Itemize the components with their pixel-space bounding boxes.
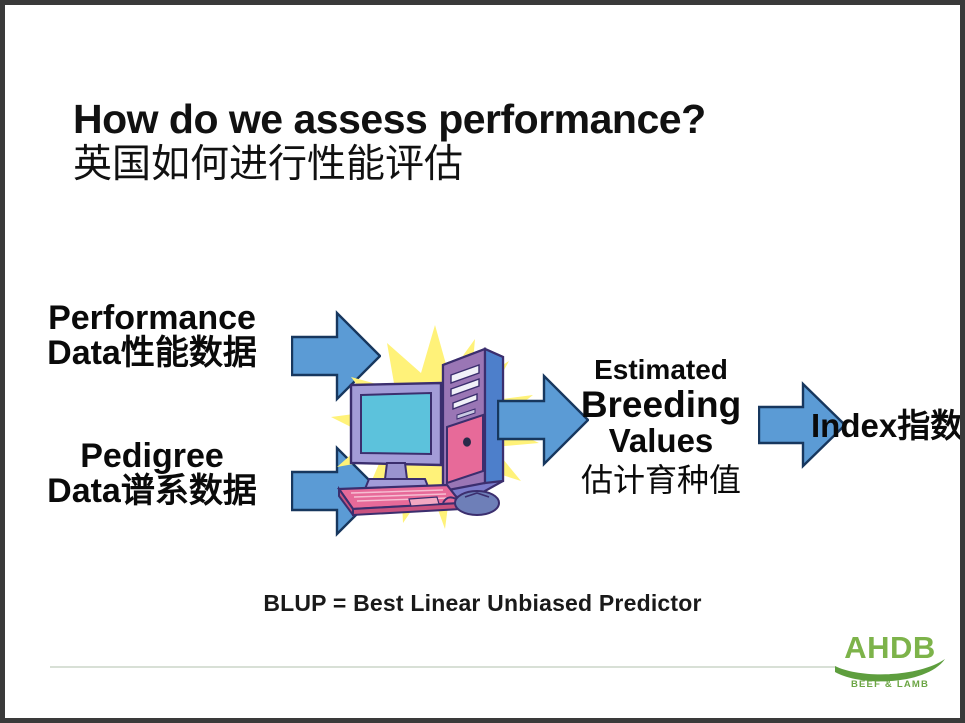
ahdb-logo-subtitle: BEEF & LAMB <box>851 679 929 690</box>
label-performance-line2: Data性能数据 <box>17 336 287 371</box>
ebv-line-chinese: 估计育种值 <box>561 461 761 499</box>
footer-divider <box>50 666 835 668</box>
page-title-english: How do we assess performance? <box>73 99 833 141</box>
slide-canvas: How do we assess performance? 英国如何进行性能评估… <box>5 5 960 718</box>
label-pedigree-line1: Pedigree <box>80 437 224 475</box>
ebv-line-estimated: Estimated <box>561 355 761 385</box>
blup-footnote: BLUP = Best Linear Unbiased Predictor <box>5 590 960 617</box>
label-performance-data: Performance Data性能数据 <box>17 301 287 370</box>
label-estimated-breeding-values: Estimated Breeding Values 估计育种值 <box>561 355 761 500</box>
computer-tower <box>443 349 503 501</box>
ebv-line-breeding: Breeding <box>561 385 761 424</box>
title-block: How do we assess performance? 英国如何进行性能评估 <box>73 99 833 186</box>
label-performance-line1: Performance <box>48 299 256 337</box>
computer-keyboard <box>339 485 461 515</box>
label-pedigree-line2: Data谱系数据 <box>17 474 287 509</box>
label-pedigree-data: Pedigree Data谱系数据 <box>17 439 287 508</box>
page-title-chinese: 英国如何进行性能评估 <box>73 143 833 187</box>
ahdb-logo: AHDB BEEF & LAMB <box>827 625 953 695</box>
ebv-line-values: Values <box>561 424 761 459</box>
label-index: Index指数 <box>811 399 960 447</box>
ahdb-logo-wordmark: AHDB <box>844 630 936 665</box>
